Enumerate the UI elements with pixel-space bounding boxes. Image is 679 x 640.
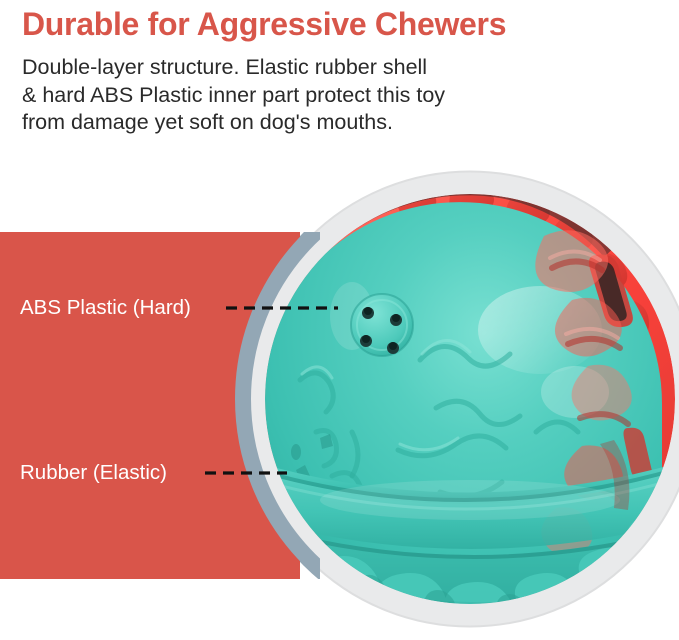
callout-label-rubber: Rubber (Elastic) (20, 461, 167, 485)
description-line-3: from damage yet soft on dog's mouths. (22, 109, 582, 137)
callout-label-abs-plastic: ABS Plastic (Hard) (20, 296, 191, 320)
infographic-canvas: Durable for Aggressive Chewers Double-la… (0, 0, 679, 640)
description-line-2: & hard ABS Plastic inner part protect th… (22, 82, 582, 110)
red-callout-panel-overlay (0, 232, 300, 579)
product-description: Double-layer structure. Elastic rubber s… (22, 54, 582, 137)
vent-hole-boss (351, 294, 413, 356)
page-title: Durable for Aggressive Chewers (22, 4, 662, 44)
description-line-1: Double-layer structure. Elastic rubber s… (22, 54, 582, 82)
